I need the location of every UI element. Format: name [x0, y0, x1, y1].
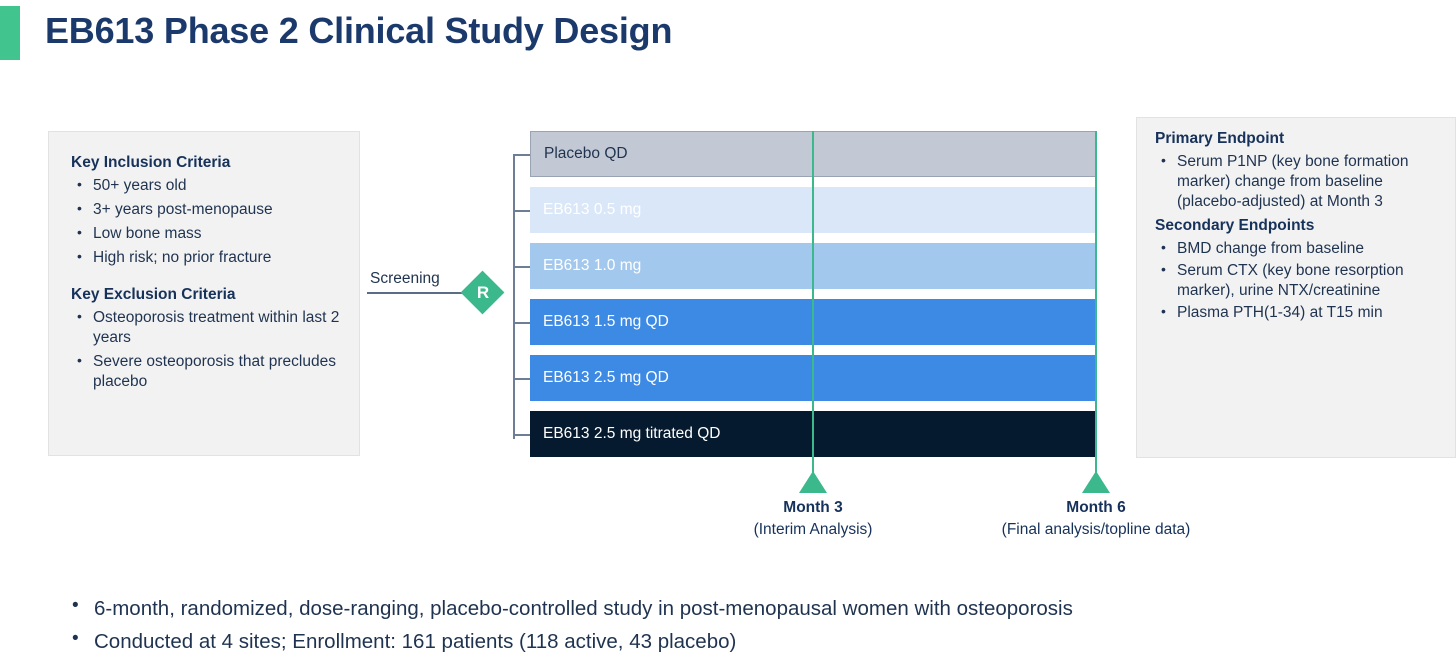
list-item: 3+ years post-menopause: [71, 200, 345, 220]
randomization-diamond-icon: R: [461, 271, 505, 315]
milestone-marker-icon: [1082, 471, 1110, 493]
screening-label: Screening: [370, 270, 440, 288]
arm-connector-stub: [513, 154, 531, 156]
milestone-marker-icon: [799, 471, 827, 493]
arm-connector-stub: [513, 266, 531, 268]
list-item: Low bone mass: [71, 224, 345, 244]
exclusion-heading: Key Exclusion Criteria: [71, 285, 345, 306]
inclusion-heading: Key Inclusion Criteria: [71, 153, 345, 174]
arm-connector-stub: [513, 210, 531, 212]
arm-connector-stub: [513, 322, 531, 324]
randomization-letter: R: [461, 271, 505, 315]
footer-summary: 6-month, randomized, dose-ranging, place…: [68, 592, 1448, 658]
primary-endpoint-heading: Primary Endpoint: [1155, 129, 1443, 150]
exclusion-list: Osteoporosis treatment within last 2 yea…: [71, 308, 345, 392]
milestone-line: [1095, 131, 1097, 493]
footer-list: 6-month, randomized, dose-ranging, place…: [68, 592, 1448, 658]
title-accent-bar: [0, 6, 20, 60]
list-item: Conducted at 4 sites; Enrollment: 161 pa…: [68, 625, 1448, 658]
treatment-arm-label: EB613 0.5 mg: [530, 201, 641, 219]
milestone-line: [812, 131, 814, 493]
list-item: Severe osteoporosis that precludes place…: [71, 352, 345, 392]
inclusion-list: 50+ years old 3+ years post-menopause Lo…: [71, 176, 345, 268]
milestone-title: Month 6: [921, 497, 1271, 519]
panel-spacer: [71, 272, 345, 285]
arm-connector-stub: [513, 378, 531, 380]
screening-connector-line: [367, 292, 475, 294]
treatment-arm-label: EB613 2.5 mg titrated QD: [530, 425, 720, 443]
list-item: 6-month, randomized, dose-ranging, place…: [68, 592, 1448, 625]
list-item: Serum P1NP (key bone formation marker) c…: [1155, 152, 1443, 212]
list-item: Plasma PTH(1-34) at T15 min: [1155, 303, 1443, 323]
secondary-endpoints-heading: Secondary Endpoints: [1155, 216, 1443, 237]
arm-connector-stub: [513, 434, 531, 436]
arm-tree-spine: [513, 154, 515, 439]
endpoints-panel: Primary Endpoint Serum P1NP (key bone fo…: [1136, 117, 1456, 458]
treatment-arm-label: EB613 1.5 mg QD: [530, 313, 669, 331]
milestone-sublabel: (Final analysis/topline data): [921, 519, 1271, 541]
list-item: High risk; no prior fracture: [71, 248, 345, 268]
secondary-endpoint-list: BMD change from baseline Serum CTX (key …: [1155, 239, 1443, 323]
treatment-arm-label: EB613 2.5 mg QD: [530, 369, 669, 387]
list-item: BMD change from baseline: [1155, 239, 1443, 259]
list-item: 50+ years old: [71, 176, 345, 196]
treatment-arm-label: EB613 1.0 mg: [530, 257, 641, 275]
list-item: Serum CTX (key bone resorption marker), …: [1155, 261, 1443, 301]
inclusion-criteria-panel: Key Inclusion Criteria 50+ years old 3+ …: [48, 131, 360, 456]
milestone-label: Month 6(Final analysis/topline data): [921, 497, 1271, 542]
list-item: Osteoporosis treatment within last 2 yea…: [71, 308, 345, 348]
treatment-arm-label: Placebo QD: [531, 145, 628, 163]
primary-endpoint-list: Serum P1NP (key bone formation marker) c…: [1155, 152, 1443, 212]
